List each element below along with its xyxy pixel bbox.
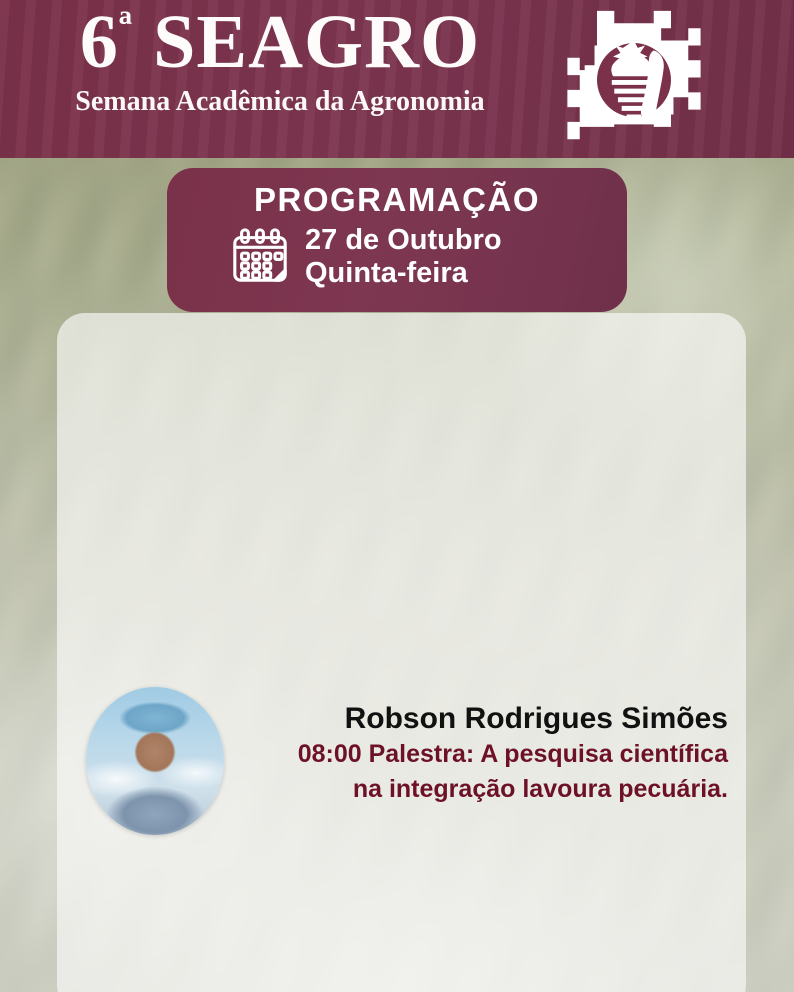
schedule-entry-rodrigo[interactable]: Rodrigo Pivoto Mulazzani 15:20 Palestra:… xyxy=(0,815,794,985)
event-program-poster: 6ª SEAGRO Semana Acadêmica da Agronomia xyxy=(0,0,794,992)
schedule-entry-emanuel[interactable]: Emanuel Cescon Potrich 13:00 Palestra: M… xyxy=(0,655,794,815)
schedule-entry-upl[interactable]: UPL UPL 09:40: Minicurso: Manejos UPL: P… xyxy=(0,500,794,650)
schedule-list: Robson Rodrigues Simões 08:00 Palestra: … xyxy=(0,0,794,992)
schedule-entry-robson[interactable]: Robson Rodrigues Simões 08:00 Palestra: … xyxy=(0,340,794,500)
